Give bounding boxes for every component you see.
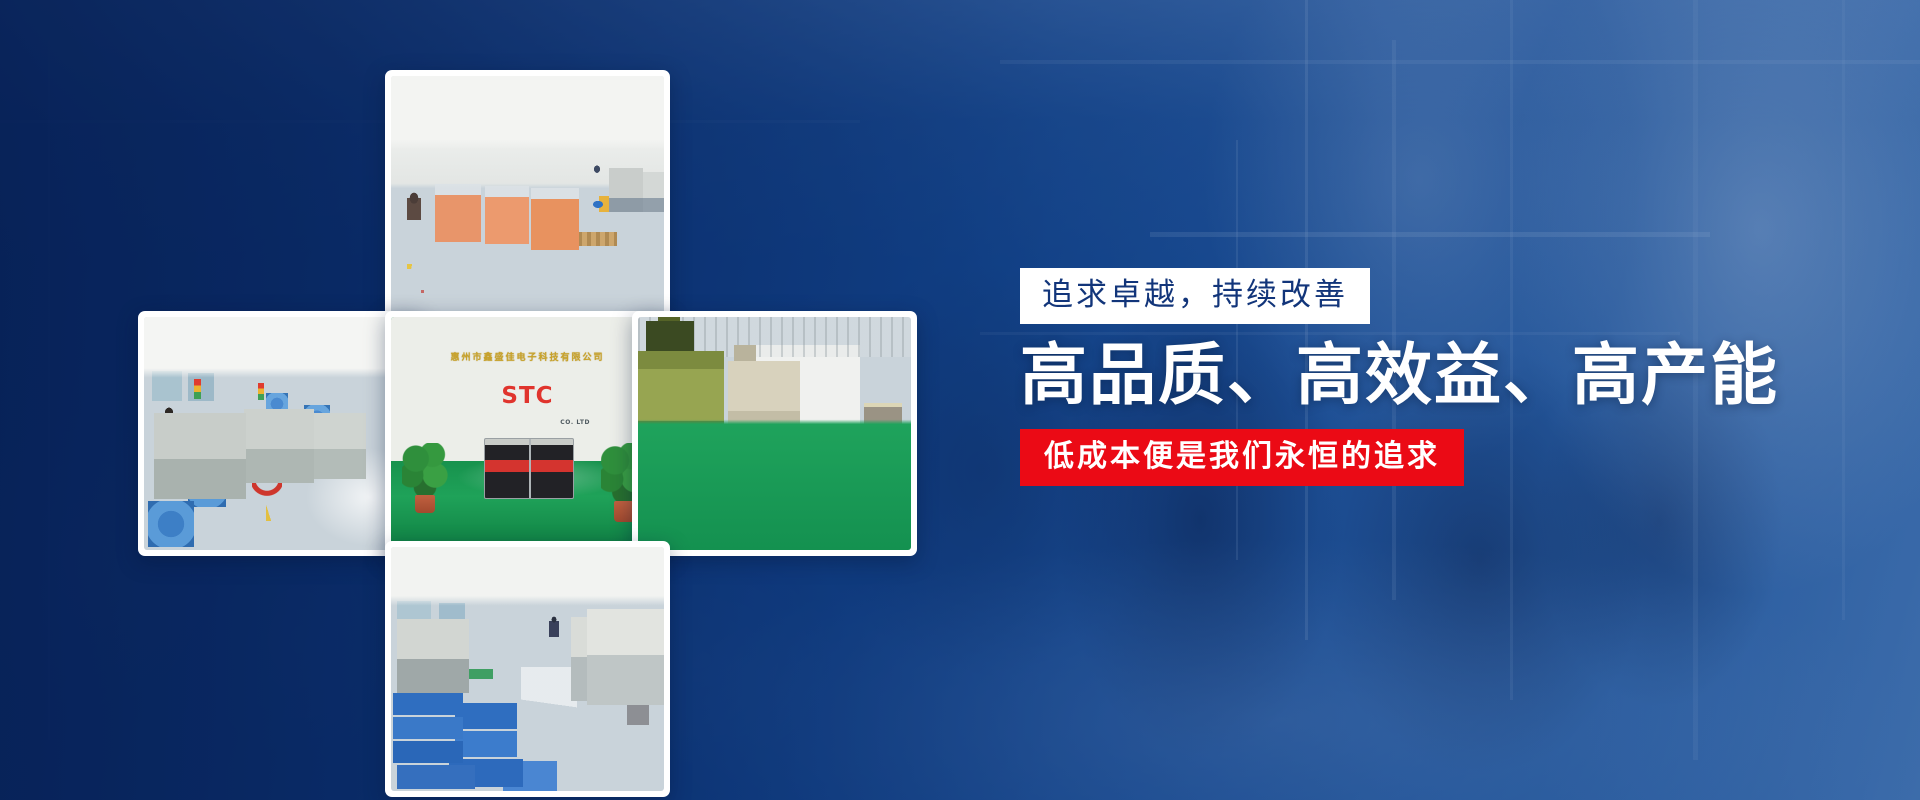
potted-plant-left [402, 443, 448, 513]
hero-headline: 高品质、高效益、高产能 [1020, 337, 1720, 415]
stc-wall-logo: STC [501, 385, 553, 408]
machine-shop-photo [638, 317, 911, 550]
hero-banner: 惠州市鑫盛佳电子科技有限公司 STC CO. LTD [0, 0, 1920, 800]
reception-desk [484, 438, 574, 499]
collage-photo-center[interactable]: 惠州市鑫盛佳电子科技有限公司 STC CO. LTD [385, 311, 670, 556]
collage-photo-bottom[interactable] [385, 541, 670, 797]
assembly-area-photo [391, 547, 664, 791]
collage-photo-top[interactable] [385, 70, 670, 326]
tagline-top: 追求卓越，持续改善 [1020, 268, 1370, 324]
plant-pot [415, 495, 435, 513]
tagline-red-badge: 低成本便是我们永恒的追求 [1020, 429, 1464, 486]
production-line-photo [144, 317, 417, 550]
photo-collage: 惠州市鑫盛佳电子科技有限公司 STC CO. LTD [138, 70, 998, 732]
workshop-photo [391, 76, 664, 320]
wall-company-name-cn: 惠州市鑫盛佳电子科技有限公司 [450, 354, 604, 363]
reception-lobby-photo: 惠州市鑫盛佳电子科技有限公司 STC CO. LTD [391, 317, 664, 550]
wall-company-name-en: CO. LTD [560, 420, 590, 426]
collage-photo-right[interactable] [632, 311, 917, 556]
hero-text-block: 追求卓越，持续改善 高品质、高效益、高产能 低成本便是我们永恒的追求 [1020, 268, 1720, 486]
collage-photo-left[interactable] [138, 311, 423, 556]
plant-leaves [402, 443, 448, 495]
